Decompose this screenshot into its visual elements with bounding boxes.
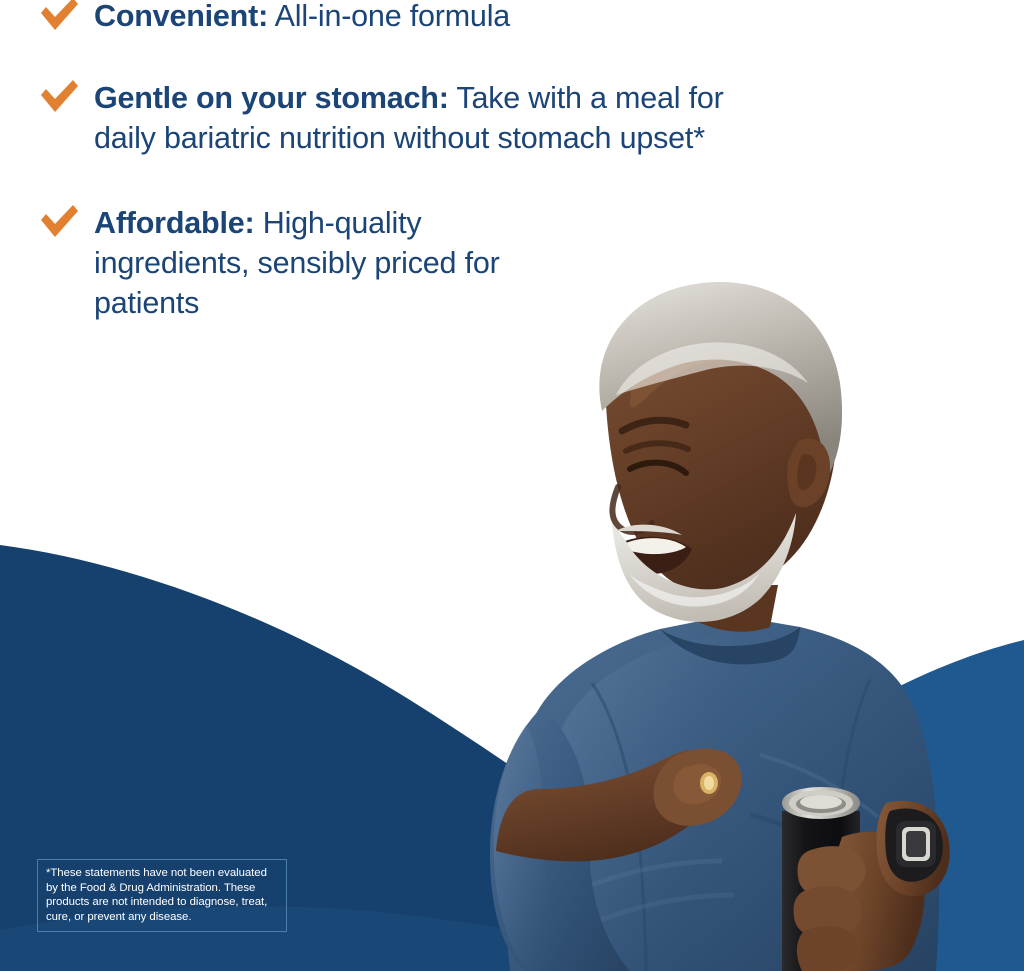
- benefit-text: Affordable: High-quality ingredients, se…: [94, 203, 534, 323]
- disclaimer-text: *These statements have not been evaluate…: [46, 866, 279, 924]
- check-icon: [38, 0, 80, 36]
- check-icon: [38, 203, 80, 243]
- benefit-body: All-in-one formula: [268, 0, 510, 33]
- benefit-item-gentle-on-stomach: Gentle on your stomach: Take with a meal…: [0, 78, 760, 158]
- benefit-lead: Gentle on your stomach:: [94, 81, 449, 115]
- benefit-lead: Affordable:: [94, 206, 254, 240]
- benefit-text: Convenient: All-in-one formula: [94, 0, 510, 36]
- benefit-lead: Convenient:: [94, 0, 268, 33]
- disclaimer-box: *These statements have not been evaluate…: [37, 859, 287, 932]
- benefits-list: Convenient: All-in-one formula Gentle on…: [0, 0, 760, 323]
- benefit-item-convenient: Convenient: All-in-one formula: [0, 0, 760, 36]
- promo-banner: Convenient: All-in-one formula Gentle on…: [0, 0, 1024, 971]
- benefit-item-affordable: Affordable: High-quality ingredients, se…: [0, 203, 760, 323]
- check-icon: [38, 78, 80, 118]
- benefit-text: Gentle on your stomach: Take with a meal…: [94, 78, 754, 158]
